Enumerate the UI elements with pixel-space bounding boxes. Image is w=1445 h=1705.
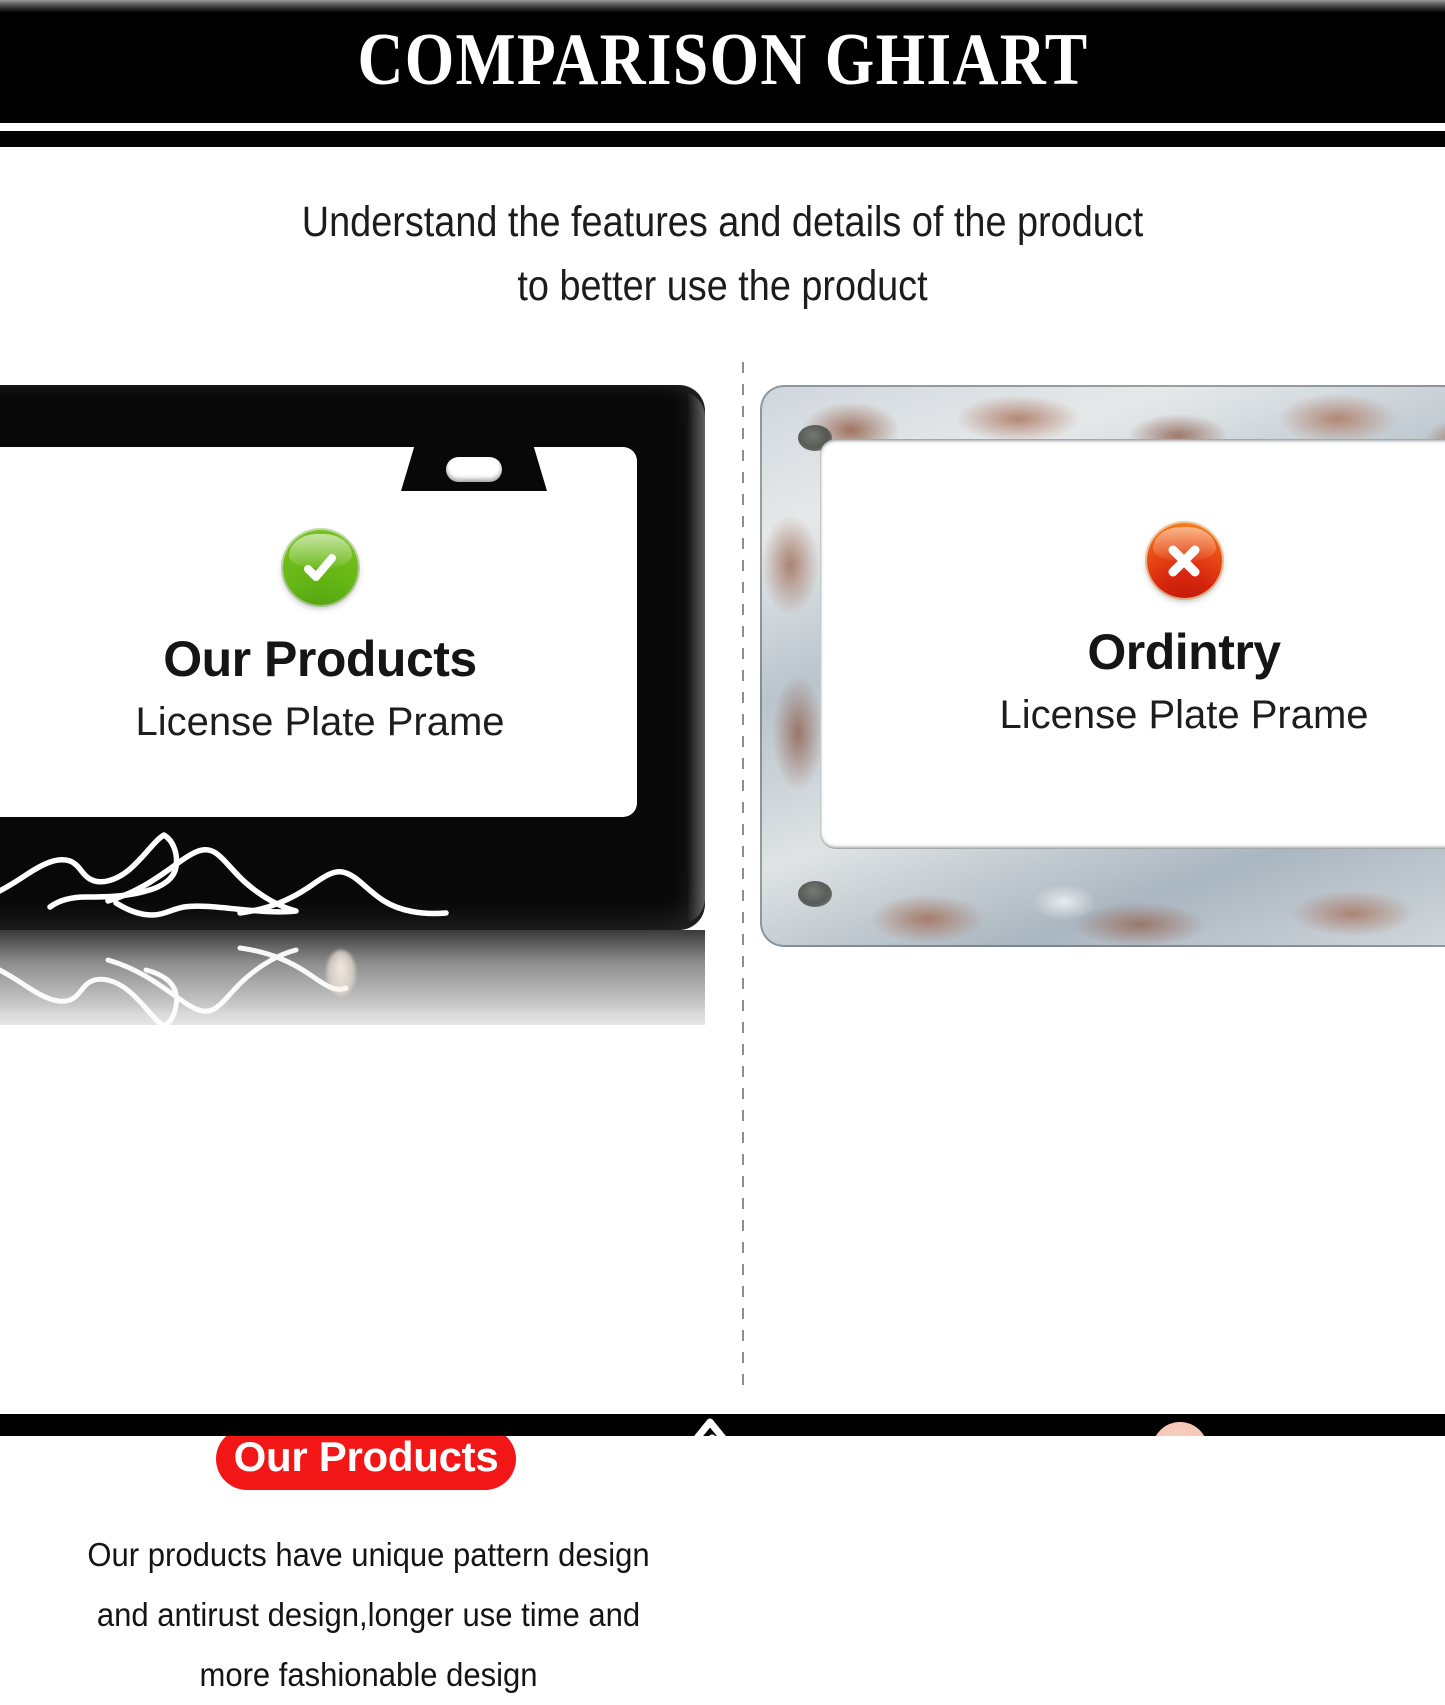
black-frame-notch-hole: [446, 457, 502, 482]
green-check-circle-icon: [283, 530, 358, 605]
our-products-label-block: Our Products License Plate Prame: [60, 530, 580, 744]
left-product-title: Our Products: [60, 633, 580, 686]
right-product-title: Ordintry: [924, 626, 1444, 679]
red-cross-circle-icon: [1147, 523, 1222, 598]
mountain-line-art-icon: [0, 817, 500, 932]
left-description-line-2: and antirust design,longer use time and: [56, 1585, 681, 1645]
left-description-line-1: Our products have unique pattern design: [56, 1525, 681, 1585]
header-white-gap: [0, 123, 1445, 131]
badge-our-products: Our Products: [216, 1428, 516, 1490]
header-top-gradient: [0, 0, 1445, 13]
page-subtitle: Understand the features and details of t…: [87, 190, 1359, 318]
left-description-line-3: more fashionable design: [56, 1645, 681, 1705]
product-image-our-products: Our Products License Plate Prame: [0, 365, 742, 1025]
mountain-peak-tip-icon: [676, 1416, 746, 1436]
product-image-ordintry: Ordintry License Plate Prame: [744, 365, 1445, 985]
subtitle-line-1: Understand the features and details of t…: [302, 198, 1143, 246]
sun-reflection: [326, 950, 356, 996]
next-image-top-edge: [0, 1414, 1445, 1436]
header-bottom-rule: [0, 131, 1445, 147]
subtitle-line-2: to better use the product: [87, 254, 1359, 318]
screw-hole-bottom-left: [798, 881, 832, 907]
page-header: COMPARISON GHIART: [0, 0, 1445, 148]
header-bar: COMPARISON GHIART: [0, 0, 1445, 123]
page-title: COMPARISON GHIART: [357, 23, 1088, 101]
right-product-subtitle: License Plate Prame: [924, 693, 1444, 737]
ordintry-label-block: Ordintry License Plate Prame: [924, 523, 1444, 737]
reflection-fade-overlay: [0, 1005, 705, 1025]
sun-top-edge: [1152, 1422, 1208, 1436]
left-product-subtitle: License Plate Prame: [60, 700, 580, 744]
left-description: Our products have unique pattern design …: [56, 1525, 681, 1705]
